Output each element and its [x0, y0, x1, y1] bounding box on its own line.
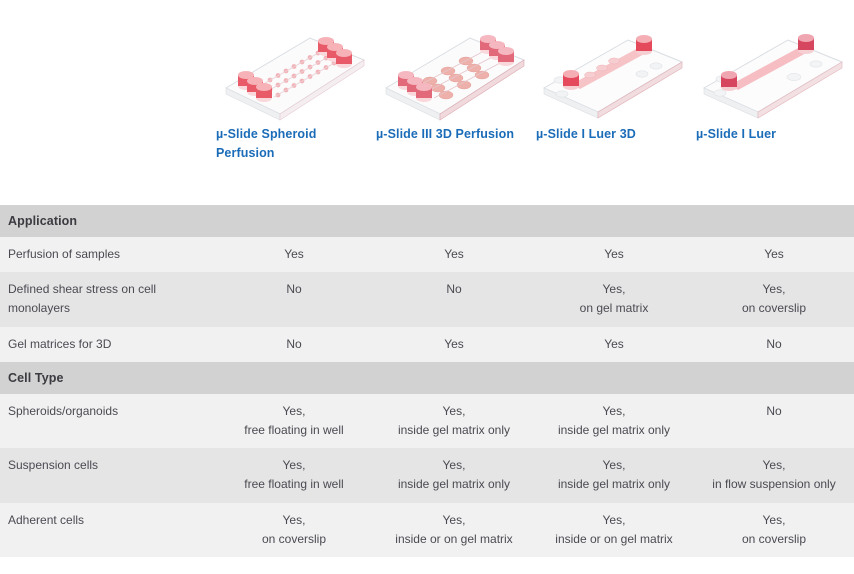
cell-value: Yes, on coverslip [694, 503, 854, 557]
slide-i-luer-3d-image [532, 20, 692, 130]
cell-value: Yes [694, 237, 854, 272]
cell-line1: Yes, [283, 404, 306, 418]
cell-value: No [214, 327, 374, 362]
cell-line2: on coverslip [702, 530, 846, 549]
cell-line1: Yes [604, 247, 624, 261]
product-column-2: µ-Slide III 3D Perfusion [372, 0, 532, 205]
section-header-label: Application [0, 205, 854, 237]
cell-value: Yes [534, 237, 694, 272]
cell-value: Yes [214, 237, 374, 272]
cell-value: Yes, on coverslip [214, 503, 374, 557]
product-header-strip: µ-Slide Spheroid Perfusion [0, 0, 854, 205]
cell-value: Yes, inside or on gel matrix [374, 503, 534, 557]
product-column-4: µ-Slide I Luer [692, 0, 852, 205]
cell-line1: No [286, 337, 301, 351]
table-row: Defined shear stress on cell monolayers … [0, 272, 854, 326]
comparison-table: Application Perfusion of samples Yes Yes… [0, 205, 854, 557]
cell-line1: Yes [284, 247, 304, 261]
slide-i-luer-icon [692, 20, 852, 130]
cell-value: Yes, free floating in well [214, 448, 374, 502]
cell-line2: inside or on gel matrix [542, 530, 686, 549]
slide-iii-3d-perfusion-image [372, 20, 532, 130]
cell-value: Yes, free floating in well [214, 394, 374, 448]
cell-value: No [694, 394, 854, 448]
cell-value: Yes, inside gel matrix only [534, 394, 694, 448]
row-label: Perfusion of samples [0, 237, 214, 272]
product-title-link-4[interactable]: µ-Slide I Luer [696, 125, 852, 144]
cell-line1: Yes [764, 247, 784, 261]
cell-value: Yes, in flow suspension only [694, 448, 854, 502]
cell-line2: inside gel matrix only [382, 421, 526, 440]
slide-spheroid-perfusion-icon [212, 20, 372, 130]
cell-value: Yes [534, 327, 694, 362]
cell-value: Yes [374, 327, 534, 362]
slide-iii-3d-perfusion-icon [372, 20, 532, 130]
slide-i-luer-3d-icon [532, 20, 692, 130]
row-label-line1: Defined shear stress [8, 282, 118, 296]
cell-line2: free floating in well [222, 421, 366, 440]
cell-line1: Yes [444, 337, 464, 351]
cell-line1: Yes, [603, 458, 626, 472]
table-row: Adherent cells Yes, on coverslip Yes, in… [0, 503, 854, 557]
row-label-line1: Perfusion of samples [8, 247, 120, 261]
product-title-link-3[interactable]: µ-Slide I Luer 3D [536, 125, 692, 144]
table-row: Perfusion of samples Yes Yes Yes Yes [0, 237, 854, 272]
row-label: Spheroids/organoids [0, 394, 214, 448]
cell-line1: Yes, [603, 404, 626, 418]
product-column-1: µ-Slide Spheroid Perfusion [212, 0, 372, 205]
cell-line2: inside gel matrix only [542, 475, 686, 494]
cell-line1: Yes, [283, 513, 306, 527]
cell-line1: Yes, [443, 458, 466, 472]
cell-line2: on coverslip [702, 299, 846, 318]
cell-value: Yes [374, 237, 534, 272]
cell-line2: inside gel matrix only [382, 475, 526, 494]
product-column-3: µ-Slide I Luer 3D [532, 0, 692, 205]
row-label: Defined shear stress on cell monolayers [0, 272, 214, 326]
slide-spheroid-perfusion-image [212, 20, 372, 130]
cell-line1: Yes, [603, 282, 626, 296]
cell-value: No [694, 327, 854, 362]
cell-line1: Yes, [443, 404, 466, 418]
cell-line1: No [766, 337, 781, 351]
cell-line1: Yes, [283, 458, 306, 472]
cell-line1: Yes, [763, 513, 786, 527]
cell-line1: No [766, 404, 781, 418]
row-label-line1: Adherent cells [8, 513, 84, 527]
section-header-cell-type: Cell Type [0, 362, 854, 394]
cell-value: Yes, inside gel matrix only [534, 448, 694, 502]
cell-line2: free floating in well [222, 475, 366, 494]
cell-line2: on coverslip [222, 530, 366, 549]
cell-line1: Yes, [603, 513, 626, 527]
product-title-link-2[interactable]: µ-Slide III 3D Perfusion [376, 125, 532, 144]
row-label-line1: Gel matrices for 3D [8, 337, 111, 351]
cell-value: No [374, 272, 534, 326]
cell-line1: Yes [444, 247, 464, 261]
slide-i-luer-image [692, 20, 852, 130]
row-label-line1: Suspension cells [8, 458, 98, 472]
product-title-link-1[interactable]: µ-Slide Spheroid Perfusion [216, 125, 372, 164]
cell-value: Yes, inside gel matrix only [374, 448, 534, 502]
section-header-application: Application [0, 205, 854, 237]
cell-value: No [214, 272, 374, 326]
cell-value: Yes, on gel matrix [534, 272, 694, 326]
cell-line1: Yes [604, 337, 624, 351]
cell-value: Yes, inside or on gel matrix [534, 503, 694, 557]
table-row: Spheroids/organoids Yes, free floating i… [0, 394, 854, 448]
table-row: Gel matrices for 3D No Yes Yes No [0, 327, 854, 362]
section-header-label: Cell Type [0, 362, 854, 394]
cell-value: Yes, on coverslip [694, 272, 854, 326]
cell-line1: Yes, [763, 282, 786, 296]
cell-line2: on gel matrix [542, 299, 686, 318]
cell-line2: inside or on gel matrix [382, 530, 526, 549]
cell-line1: No [286, 282, 301, 296]
cell-line1: Yes, [763, 458, 786, 472]
row-label: Gel matrices for 3D [0, 327, 214, 362]
cell-line1: No [446, 282, 461, 296]
cell-value: Yes, inside gel matrix only [374, 394, 534, 448]
cell-line2: in flow suspension only [702, 475, 846, 494]
table-row: Suspension cells Yes, free floating in w… [0, 448, 854, 502]
cell-line2: inside gel matrix only [542, 421, 686, 440]
row-label-line1: Spheroids/organoids [8, 404, 118, 418]
cell-line1: Yes, [443, 513, 466, 527]
row-label: Suspension cells [0, 448, 214, 502]
row-label: Adherent cells [0, 503, 214, 557]
